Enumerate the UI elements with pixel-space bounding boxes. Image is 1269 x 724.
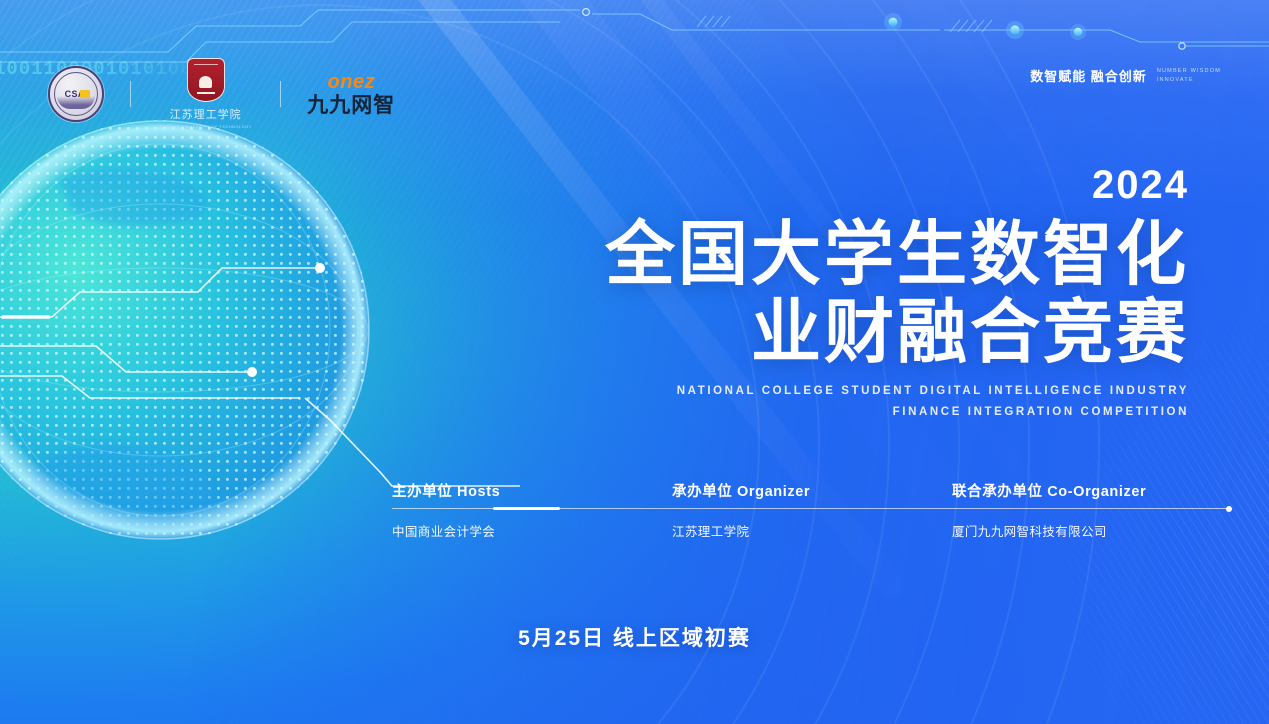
organizer-role-co-organizer: 联合承办单位 Co-Organizer [952, 480, 1232, 508]
organizer-name-organizer: 江苏理工学院 [672, 521, 952, 540]
organizer-role-organizer: 承办单位 Organizer [672, 480, 952, 508]
slogan-en-line2: INNOVATE [1157, 76, 1221, 84]
organizer-rule-organizer [672, 508, 952, 509]
organizer-host: 主办单位 Hosts 中国商业会计学会 [392, 480, 672, 540]
onez-wordmark: onez [328, 72, 376, 92]
slogan-text-cn: 数智赋能 融合创新 [1030, 66, 1147, 85]
title-block: 2024 全国大学生数智化 业财融合竞赛 NATIONAL COLLEGE ST… [605, 165, 1189, 423]
title-line-2: 业财融合竞赛 [605, 293, 1189, 371]
onez-name-cn: 九九网智 [307, 95, 395, 116]
subtitle-en-line2: FINANCE INTEGRATION COMPETITION [605, 402, 1189, 423]
organizer-rule-co-organizer [952, 508, 1232, 509]
slogan-text-en: NUMBER WISDOM INNOVATE [1157, 67, 1221, 84]
title-line-1: 全国大学生数智化 [605, 215, 1189, 293]
subtitle-en: NATIONAL COLLEGE STUDENT DIGITAL INTELLI… [605, 381, 1189, 424]
organizer-name-co-organizer: 厦门九九网智科技有限公司 [952, 521, 1232, 540]
shield-icon [187, 58, 225, 102]
logo-csai[interactable]: CSAI [48, 66, 104, 122]
logo-bar: CSAI 江苏理工学院 JIANGSU UNIVERSITY OF TECHNO… [48, 58, 395, 129]
organizer-name-host: 中国商业会计学会 [392, 521, 672, 540]
year-label: 2024 [605, 165, 1189, 205]
slogan-en-line1: NUMBER WISDOM [1157, 67, 1221, 75]
organizer-organizer: 承办单位 Organizer 江苏理工学院 [672, 480, 952, 540]
logo-onez[interactable]: onez 九九网智 [307, 72, 395, 116]
event-date-text: 5月25日 线上区域初赛 [518, 622, 751, 652]
logo-university-name-cn: 江苏理工学院 [170, 106, 242, 122]
subtitle-en-line1: NATIONAL COLLEGE STUDENT DIGITAL INTELLI… [605, 381, 1189, 402]
organizer-role-host: 主办单位 Hosts [392, 480, 672, 508]
logo-university-name-en: JIANGSU UNIVERSITY OF TECHNOLOGY [159, 124, 251, 129]
poster-canvas: 100110000101010011 CSAI 江苏理工学院 JIANGSU U… [0, 0, 1269, 724]
seal-icon: CSAI [48, 66, 104, 122]
date-bar: 5月25日 线上区域初赛 [0, 622, 1269, 652]
logo-divider-1 [130, 81, 131, 107]
organizer-rule-host [392, 508, 672, 509]
logo-divider-2 [280, 81, 281, 107]
slogan-block: 数智赋能 融合创新 NUMBER WISDOM INNOVATE [1030, 66, 1221, 85]
organizer-co-organizer: 联合承办单位 Co-Organizer 厦门九九网智科技有限公司 [952, 480, 1232, 540]
logo-jiangsu-university[interactable]: 江苏理工学院 JIANGSU UNIVERSITY OF TECHNOLOGY [157, 58, 254, 129]
organizers-row: 主办单位 Hosts 中国商业会计学会 承办单位 Organizer 江苏理工学… [392, 480, 1232, 540]
